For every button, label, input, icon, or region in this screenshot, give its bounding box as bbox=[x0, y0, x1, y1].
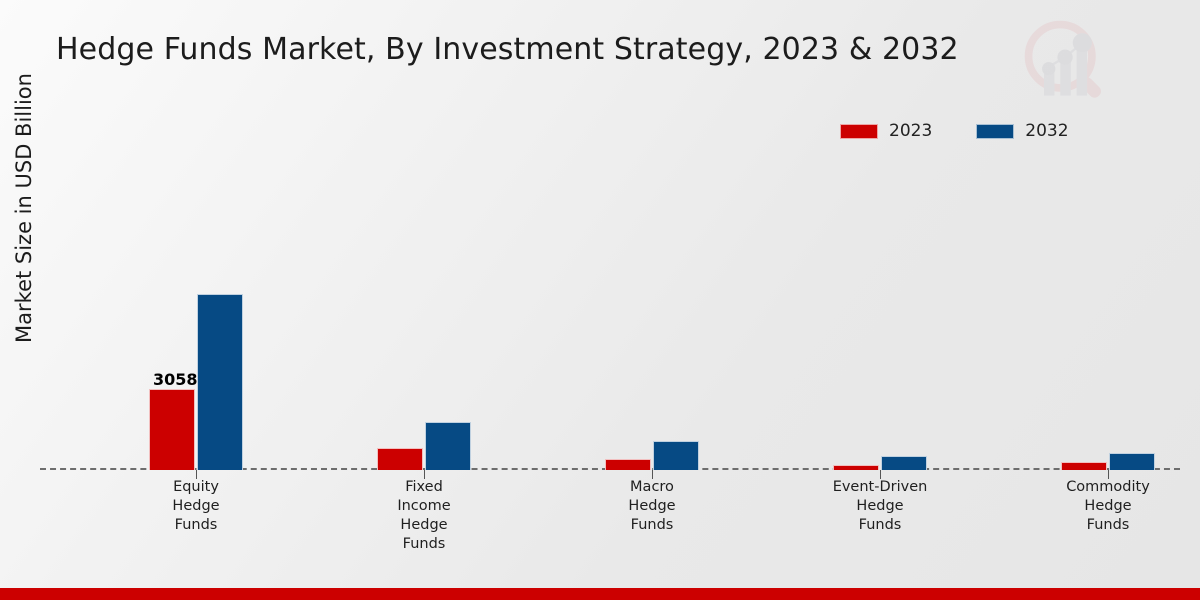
bar-2023-equity-hedge-funds[interactable]: 3058.51 bbox=[149, 389, 195, 470]
legend-item-2023[interactable]: 2023 bbox=[840, 123, 932, 140]
bar-2023-macro-hedge-funds[interactable] bbox=[605, 459, 651, 470]
bar-pair bbox=[605, 160, 699, 470]
legend-swatch-2023 bbox=[840, 124, 878, 139]
bar-2032-equity-hedge-funds[interactable] bbox=[197, 294, 243, 470]
page-title: Hedge Funds Market, By Investment Strate… bbox=[56, 32, 959, 67]
bar-group-macro-hedge-funds: Macro Hedge Funds bbox=[538, 160, 766, 470]
bar-group-event-driven-hedge-funds: Event-Driven Hedge Funds bbox=[766, 160, 994, 470]
footer-band bbox=[0, 588, 1200, 600]
y-axis-title: Market Size in USD Billion bbox=[12, 43, 36, 373]
bar-group-fixed-income-hedge-funds: Fixed Income Hedge Funds bbox=[310, 160, 538, 470]
legend-label-2023: 2023 bbox=[889, 123, 932, 140]
bar-2032-commodity-hedge-funds[interactable] bbox=[1109, 453, 1155, 470]
bar-pair bbox=[377, 160, 471, 470]
bar-2032-fixed-income-hedge-funds[interactable] bbox=[425, 422, 471, 470]
x-axis-label-event-driven-hedge-funds: Event-Driven Hedge Funds bbox=[775, 478, 985, 535]
legend-swatch-2032 bbox=[976, 124, 1014, 139]
plot-area: 3058.51 Equity Hedge Funds Fixed Income … bbox=[40, 160, 1180, 470]
chart-page: Hedge Funds Market, By Investment Strate… bbox=[0, 0, 1200, 600]
magnifier-bar-chart-logo-icon bbox=[1018, 14, 1114, 110]
chart-legend: 2023 2032 bbox=[840, 120, 1069, 142]
bar-pair bbox=[833, 160, 927, 470]
bar-group-equity-hedge-funds: 3058.51 Equity Hedge Funds bbox=[82, 160, 310, 470]
legend-item-2032[interactable]: 2032 bbox=[976, 123, 1068, 140]
x-axis-label-macro-hedge-funds: Macro Hedge Funds bbox=[547, 478, 757, 535]
bar-2023-fixed-income-hedge-funds[interactable] bbox=[377, 448, 423, 470]
bar-pair bbox=[1061, 160, 1155, 470]
bar-2023-commodity-hedge-funds[interactable] bbox=[1061, 462, 1107, 470]
x-axis-label-equity-hedge-funds: Equity Hedge Funds bbox=[91, 478, 301, 535]
bar-pair: 3058.51 bbox=[149, 160, 243, 470]
bar-2032-event-driven-hedge-funds[interactable] bbox=[881, 456, 927, 470]
bar-2023-event-driven-hedge-funds[interactable] bbox=[833, 465, 879, 470]
bar-group-commodity-hedge-funds: Commodity Hedge Funds bbox=[994, 160, 1200, 470]
bar-2032-macro-hedge-funds[interactable] bbox=[653, 441, 699, 470]
x-axis-label-commodity-hedge-funds: Commodity Hedge Funds bbox=[1003, 478, 1200, 535]
x-axis-label-fixed-income-hedge-funds: Fixed Income Hedge Funds bbox=[319, 478, 529, 554]
legend-label-2032: 2032 bbox=[1025, 123, 1068, 140]
